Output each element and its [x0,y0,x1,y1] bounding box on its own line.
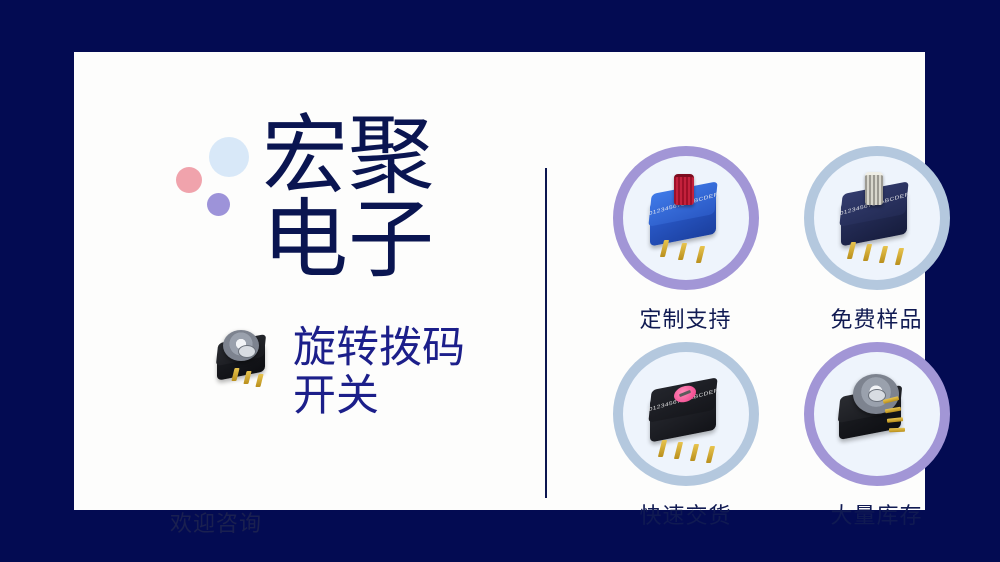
feature-label-3: 快速交货 [639,498,731,530]
feature-circle-1: 0123456789ABCDEF [613,146,759,290]
product-subtitle-row: 旋转拨码 开关 [211,324,465,420]
product-subtitle-line1: 旋转拨码 [293,324,465,372]
decor-dot-purple [207,193,230,216]
rotary-switch-blue-red-knob-icon: 0123456789ABCDEF [640,174,732,262]
feature-grid: 0123456789ABCDEF 定制支持 [598,146,964,542]
welcome-note: 欢迎咨询 [170,506,262,538]
brand-title-line2: 电子 [262,198,522,282]
feature-item[interactable]: 大量库存 [789,342,964,530]
feature-item[interactable]: 0123456789ABCDEF 定制支持 [598,146,773,334]
feature-circle-2: 0123456789ABCDEF [804,146,950,290]
feature-label-1: 定制支持 [639,302,731,334]
product-subtitle-line2: 开关 [293,372,465,420]
brand-title: 宏聚 电子 [262,114,522,282]
product-subtitle: 旋转拨码 开关 [293,324,465,420]
feature-item[interactable]: 0123456789ABCDEF 快速交货 [598,342,773,530]
brand-title-line1: 宏聚 [262,108,434,204]
feature-circle-4 [804,342,950,486]
rotary-switch-navy-pale-knob-icon: 0123456789ABCDEF [831,174,923,262]
rotary-switch-grey-gear-icon [831,370,923,458]
decor-dot-light-blue [209,137,249,177]
rotary-dip-switch-icon [211,328,277,390]
rotary-switch-black-pink-dial-icon: 0123456789ABCDEF [640,370,732,458]
poster-canvas: 宏聚 电子 旋转拨码 开关 [0,0,1000,562]
content-card: 宏聚 电子 旋转拨码 开关 [74,52,925,510]
vertical-divider [545,168,547,498]
feature-label-4: 大量库存 [830,498,922,530]
decor-dot-pink [176,167,202,193]
feature-label-2: 免费样品 [830,302,922,334]
feature-circle-3: 0123456789ABCDEF [613,342,759,486]
feature-item[interactable]: 0123456789ABCDEF 免费样品 [789,146,964,334]
